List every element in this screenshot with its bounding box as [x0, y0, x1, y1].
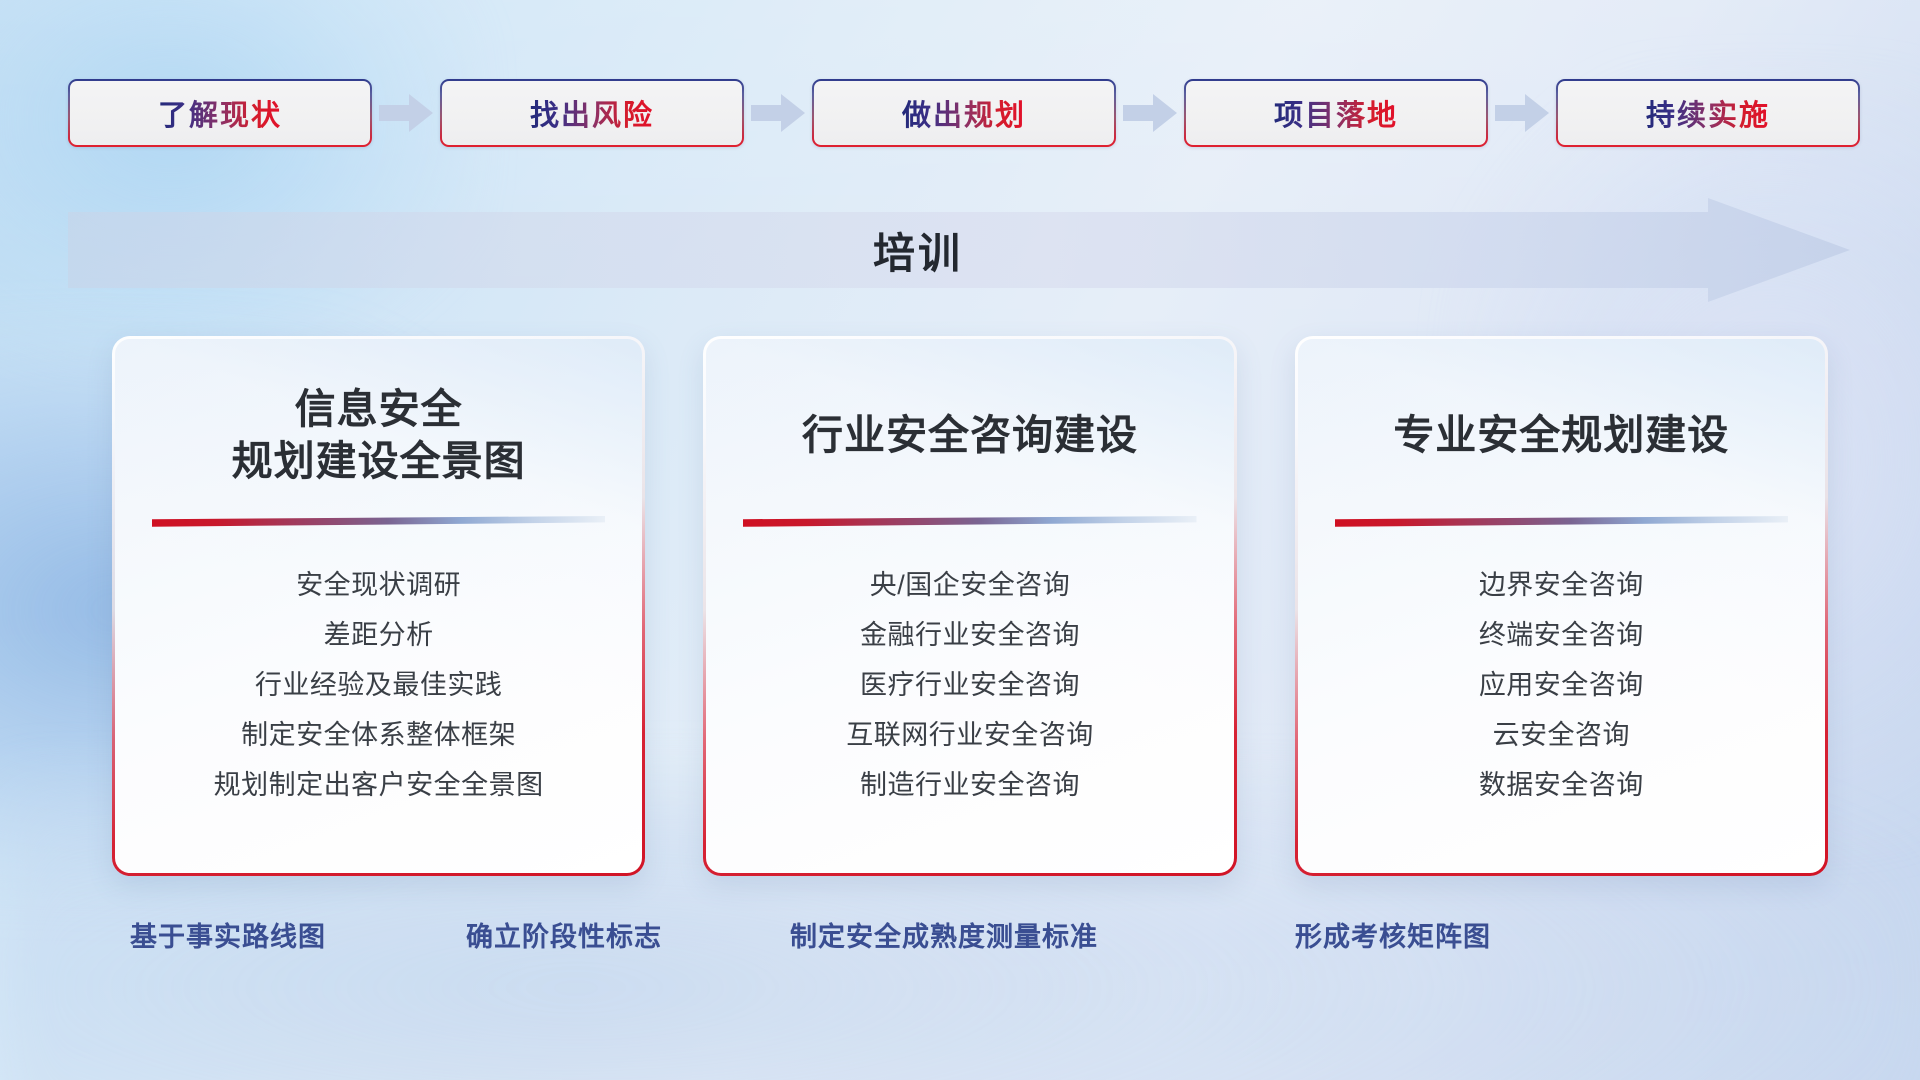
- process-step-2[interactable]: 做出规划: [812, 79, 1116, 147]
- card-professional-security-planning[interactable]: 专业安全规划建设: [1295, 336, 1828, 876]
- list-item: 规划制定出客户安全全景图: [214, 772, 544, 799]
- caption-2: 制定安全成熟度测量标准: [790, 915, 1098, 954]
- process-step-3-body: 项目落地: [1186, 81, 1486, 145]
- card-1-title-line2: 规划建设全景图: [232, 435, 526, 487]
- card-1-list: 安全现状调研 差距分析 行业经验及最佳实践 制定安全体系整体框架 规划制定出客户…: [214, 572, 544, 799]
- card-3-title-line1: 专业安全规划建设: [1393, 409, 1729, 461]
- caption-row: 基于事实路线图 确立阶段性标志 制定安全成熟度测量标准 形成考核矩阵图: [0, 915, 1920, 961]
- card-3-list: 边界安全咨询 终端安全咨询 应用安全咨询 云安全咨询 数据安全咨询: [1479, 572, 1644, 799]
- right-arrow-icon: [1116, 93, 1184, 133]
- list-item: 云安全咨询: [1479, 722, 1644, 749]
- card-1-title-line1: 信息安全: [232, 383, 526, 435]
- list-item: 终端安全咨询: [1479, 622, 1644, 649]
- card-2-title: 行业安全咨询建设: [784, 409, 1156, 461]
- right-arrow-icon: [1488, 93, 1556, 133]
- card-information-security-panorama[interactable]: 信息安全 规划建设全景图: [112, 336, 645, 876]
- training-banner: 培训: [68, 198, 1850, 302]
- process-step-1-label: 找出风险: [530, 92, 654, 134]
- process-step-1[interactable]: 找出风险: [440, 79, 744, 147]
- card-2-title-line1: 行业安全咨询建设: [802, 409, 1138, 461]
- list-item: 制定安全体系整体框架: [214, 722, 544, 749]
- list-item: 边界安全咨询: [1479, 572, 1644, 599]
- card-3-divider: [1335, 516, 1789, 528]
- process-step-4-body: 持续实施: [1558, 81, 1858, 145]
- process-step-4[interactable]: 持续实施: [1556, 79, 1860, 147]
- process-step-0-body: 了解现状: [70, 81, 370, 145]
- caption-3: 形成考核矩阵图: [1295, 915, 1491, 954]
- list-item: 安全现状调研: [214, 572, 544, 599]
- right-arrow-icon: [372, 93, 440, 133]
- list-item: 制造行业安全咨询: [846, 772, 1094, 799]
- card-1-divider: [152, 516, 606, 528]
- list-item: 行业经验及最佳实践: [214, 672, 544, 699]
- card-3-body: 专业安全规划建设: [1298, 339, 1825, 873]
- training-banner-label: 培训: [68, 198, 1768, 302]
- process-step-4-label: 持续实施: [1646, 92, 1770, 134]
- caption-0: 基于事实路线图: [130, 915, 326, 954]
- list-item: 应用安全咨询: [1479, 672, 1644, 699]
- list-item: 央/国企安全咨询: [846, 572, 1094, 599]
- card-1-body: 信息安全 规划建设全景图: [115, 339, 642, 873]
- process-step-2-body: 做出规划: [814, 81, 1114, 145]
- process-flow: 了解现状 找出风险 做出规划 项目落地 持续实施: [68, 78, 1858, 148]
- card-2-list: 央/国企安全咨询 金融行业安全咨询 医疗行业安全咨询 互联网行业安全咨询 制造行…: [846, 572, 1094, 799]
- list-item: 互联网行业安全咨询: [846, 722, 1094, 749]
- list-item: 医疗行业安全咨询: [846, 672, 1094, 699]
- caption-1: 确立阶段性标志: [466, 915, 662, 954]
- right-arrow-icon: [744, 93, 812, 133]
- process-step-1-body: 找出风险: [442, 81, 742, 145]
- card-industry-security-consulting[interactable]: 行业安全咨询建设: [703, 336, 1236, 876]
- card-2-body: 行业安全咨询建设: [706, 339, 1233, 873]
- process-step-0-label: 了解现状: [158, 92, 282, 134]
- list-item: 差距分析: [214, 622, 544, 649]
- process-step-3[interactable]: 项目落地: [1184, 79, 1488, 147]
- card-group: 信息安全 规划建设全景图: [112, 336, 1828, 876]
- card-2-divider: [743, 516, 1197, 528]
- card-3-title: 专业安全规划建设: [1375, 409, 1747, 461]
- process-step-3-label: 项目落地: [1274, 92, 1398, 134]
- list-item: 数据安全咨询: [1479, 772, 1644, 799]
- list-item: 金融行业安全咨询: [846, 622, 1094, 649]
- card-1-title: 信息安全 规划建设全景图: [214, 383, 544, 488]
- process-step-0[interactable]: 了解现状: [68, 79, 372, 147]
- process-step-2-label: 做出规划: [902, 92, 1026, 134]
